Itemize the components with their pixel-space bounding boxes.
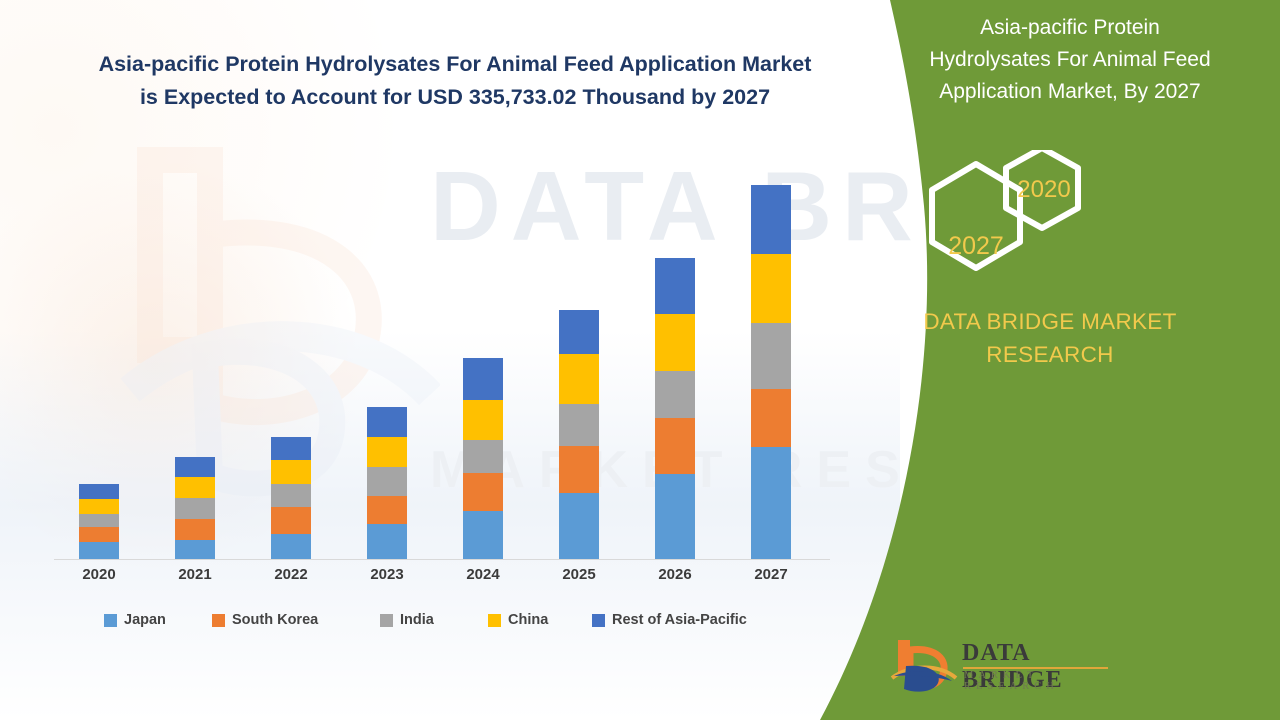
bar-segment-south-korea-2020 (79, 527, 119, 542)
bar-segment-japan-2021 (175, 540, 215, 559)
right-panel: Asia-pacific Protein Hydrolysates For An… (820, 0, 1280, 720)
bar-segment-china-2024 (463, 400, 503, 439)
right-panel-title-line1: Asia-pacific Protein (870, 12, 1270, 44)
data-bridge-logo: DATA BRIDGE MARKET RESEARCH (890, 636, 1110, 698)
bar-segment-japan-2027 (751, 447, 791, 559)
x-axis-label-2027: 2027 (736, 566, 806, 583)
bar-segment-rest-of-asia-pacific-2027 (751, 185, 791, 254)
bar-segment-india-2025 (559, 404, 599, 446)
page-title-line2: is Expected to Account for USD 335,733.0… (40, 81, 870, 114)
bar-segment-china-2026 (655, 314, 695, 371)
bar-segment-rest-of-asia-pacific-2021 (175, 457, 215, 478)
page-title-line1: Asia-pacific Protein Hydrolysates For An… (40, 48, 870, 81)
chart-legend: JapanSouth KoreaIndiaChinaRest of Asia-P… (40, 612, 830, 644)
bar-segment-rest-of-asia-pacific-2022 (271, 437, 311, 460)
legend-swatch-icon (488, 614, 501, 627)
brand-name-line1: DATA BRIDGE MARKET (860, 305, 1240, 338)
right-panel-title-line2: Hydrolysates For Animal Feed (870, 44, 1270, 76)
legend-swatch-icon (212, 614, 225, 627)
hexagon-group: 2027 2020 (820, 150, 1280, 280)
bar-segment-japan-2026 (655, 474, 695, 560)
legend-item-japan[interactable]: Japan (104, 612, 166, 628)
brand-name-line2: RESEARCH (860, 338, 1240, 371)
bar-segment-japan-2023 (367, 524, 407, 559)
bar-segment-south-korea-2021 (175, 519, 215, 541)
legend-swatch-icon (380, 614, 393, 627)
bar-segment-india-2022 (271, 484, 311, 507)
x-axis-label-2021: 2021 (160, 566, 230, 583)
bar-segment-rest-of-asia-pacific-2024 (463, 358, 503, 400)
bar-segment-india-2023 (367, 467, 407, 496)
x-axis-label-2025: 2025 (544, 566, 614, 583)
hexagon-2027-label: 2027 (948, 232, 1004, 260)
bar-segment-india-2021 (175, 498, 215, 519)
bar-2023 (367, 407, 407, 559)
logo-tagline: MARKET RESEARCH (964, 670, 1110, 692)
bar-segment-china-2023 (367, 437, 407, 467)
bar-2025 (559, 310, 599, 559)
x-axis-label-2020: 2020 (64, 566, 134, 583)
legend-label: Japan (124, 612, 166, 628)
bar-2024 (463, 358, 503, 559)
legend-item-rest-of-asia-pacific[interactable]: Rest of Asia-Pacific (592, 612, 747, 628)
bar-segment-japan-2024 (463, 511, 503, 559)
bar-segment-china-2027 (751, 254, 791, 324)
bar-segment-india-2026 (655, 371, 695, 418)
legend-label: South Korea (232, 612, 318, 628)
bar-segment-india-2027 (751, 323, 791, 389)
bar-segment-south-korea-2022 (271, 507, 311, 533)
bar-2027 (751, 185, 791, 559)
right-panel-title-line3: Application Market, By 2027 (870, 76, 1270, 108)
brand-name: DATA BRIDGE MARKET RESEARCH (860, 305, 1240, 371)
legend-label: Rest of Asia-Pacific (612, 612, 747, 628)
bar-segment-south-korea-2026 (655, 418, 695, 473)
bar-2022 (271, 437, 311, 559)
chart-x-axis-labels: 20202021202220232024202520262027 (40, 566, 830, 592)
bar-segment-japan-2022 (271, 534, 311, 559)
bar-segment-china-2025 (559, 354, 599, 404)
legend-item-south-korea[interactable]: South Korea (212, 612, 318, 628)
infographic-canvas: DATA BRIDGE MARKET RESEARCH Asia-pacific… (0, 0, 1280, 720)
logo-divider (963, 667, 1108, 669)
x-axis-label-2023: 2023 (352, 566, 422, 583)
right-panel-title: Asia-pacific Protein Hydrolysates For An… (870, 12, 1270, 108)
bar-segment-india-2024 (463, 440, 503, 473)
x-axis-label-2022: 2022 (256, 566, 326, 583)
bar-segment-china-2020 (79, 499, 119, 514)
bar-2020 (79, 484, 119, 559)
hexagon-2020-label: 2020 (1017, 176, 1070, 203)
bar-segment-south-korea-2023 (367, 496, 407, 524)
bar-segment-japan-2020 (79, 542, 119, 559)
bar-segment-rest-of-asia-pacific-2025 (559, 310, 599, 354)
bar-2026 (655, 258, 695, 559)
chart-plot-area (40, 130, 830, 560)
bar-segment-india-2020 (79, 514, 119, 527)
legend-swatch-icon (592, 614, 605, 627)
hexagon-svg: 2027 2020 (820, 150, 1280, 290)
bar-segment-rest-of-asia-pacific-2023 (367, 407, 407, 437)
legend-item-india[interactable]: India (380, 612, 434, 628)
legend-label: India (400, 612, 434, 628)
logo-mark-icon (890, 636, 960, 696)
stacked-bar-chart (40, 130, 830, 562)
bar-2021 (175, 457, 215, 559)
bar-segment-rest-of-asia-pacific-2020 (79, 484, 119, 499)
bar-segment-japan-2025 (559, 493, 599, 559)
legend-item-china[interactable]: China (488, 612, 548, 628)
bar-segment-south-korea-2024 (463, 473, 503, 512)
chart-baseline-axis (54, 559, 830, 560)
bar-segment-china-2021 (175, 477, 215, 498)
bar-segment-china-2022 (271, 460, 311, 483)
bar-segment-south-korea-2025 (559, 446, 599, 493)
legend-swatch-icon (104, 614, 117, 627)
page-title: Asia-pacific Protein Hydrolysates For An… (40, 48, 870, 114)
x-axis-label-2024: 2024 (448, 566, 518, 583)
bar-segment-south-korea-2027 (751, 389, 791, 447)
legend-label: China (508, 612, 548, 628)
x-axis-label-2026: 2026 (640, 566, 710, 583)
bar-segment-rest-of-asia-pacific-2026 (655, 258, 695, 313)
